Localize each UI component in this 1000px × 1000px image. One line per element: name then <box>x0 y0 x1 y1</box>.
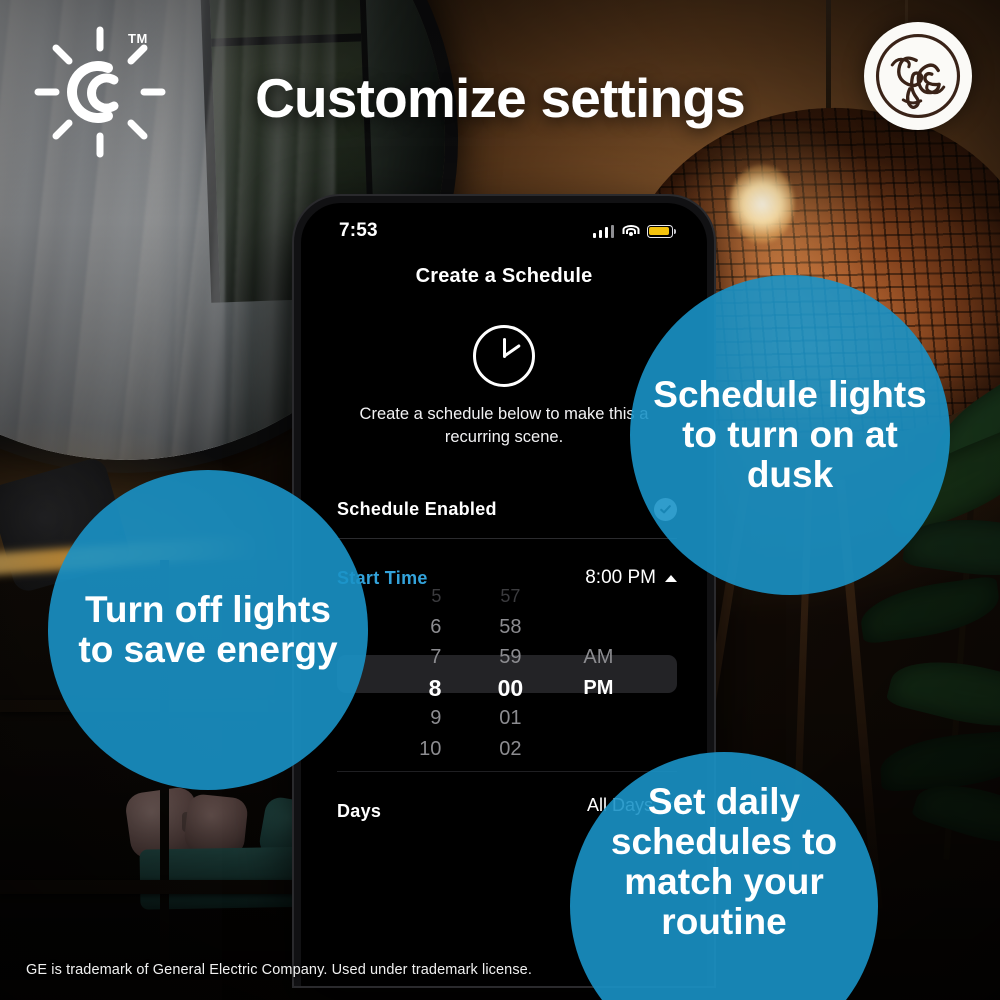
row-divider <box>337 771 677 772</box>
schedule-enabled-label: Schedule Enabled <box>337 499 497 520</box>
status-bar-indicators <box>593 225 673 238</box>
callout-bubble-daily: Set daily schedules to match your routin… <box>570 752 878 1000</box>
picker-hour-option[interactable]: 11 <box>423 764 442 771</box>
picker-minute-option[interactable]: 58 <box>499 612 521 643</box>
wifi-icon <box>622 225 639 238</box>
clock-icon <box>473 325 535 387</box>
trademark-symbol: TM <box>128 31 148 46</box>
cellular-signal-icon <box>593 225 614 238</box>
trademark-footnote: GE is trademark of General Electric Comp… <box>26 962 532 978</box>
status-bar: 7:53 <box>301 203 707 249</box>
picker-meridiem-option-selected[interactable]: PM <box>583 673 613 704</box>
page-headline: Customize settings <box>0 66 1000 130</box>
row-divider <box>337 538 677 539</box>
status-bar-time: 7:53 <box>339 220 378 242</box>
schedule-enabled-row[interactable]: Schedule Enabled <box>337 491 677 527</box>
picker-hour-option[interactable]: 9 <box>430 703 441 734</box>
picker-minute-option[interactable]: 57 <box>500 581 520 612</box>
picker-minute-option[interactable]: 03 <box>500 764 520 771</box>
picker-meridiem-option[interactable]: AM <box>583 642 613 673</box>
time-picker-minutes-column[interactable]: 57 58 59 00 01 02 03 <box>459 581 561 771</box>
picker-minute-option-selected[interactable]: 00 <box>498 673 524 704</box>
picker-minute-option[interactable]: 59 <box>499 642 521 673</box>
page-title: Create a Schedule <box>301 265 707 288</box>
days-label: Days <box>337 801 381 822</box>
picker-minute-option[interactable]: 02 <box>499 734 521 765</box>
battery-icon <box>647 225 673 238</box>
callout-bubble-energy: Turn off lights to save energy <box>48 470 368 790</box>
picker-hour-option-selected[interactable]: 8 <box>429 673 442 704</box>
picker-hour-option[interactable]: 6 <box>430 612 441 643</box>
picker-hour-option[interactable]: 5 <box>431 581 441 612</box>
time-picker-meridiem-column[interactable]: AM PM <box>561 581 677 771</box>
picker-minute-option[interactable]: 01 <box>499 703 521 734</box>
picker-hour-option[interactable]: 7 <box>430 642 441 673</box>
clock-minute-hand <box>503 344 520 357</box>
picker-hour-option[interactable]: 10 <box>419 734 441 765</box>
time-picker[interactable]: 5 6 7 8 9 10 11 57 58 59 00 01 02 <box>337 581 677 771</box>
time-picker-columns: 5 6 7 8 9 10 11 57 58 59 00 01 02 <box>337 581 677 771</box>
callout-bubble-dusk: Schedule lights to turn on at dusk <box>630 275 950 595</box>
promo-image: 7:53 Create a Schedule Create a schedule… <box>0 0 1000 1000</box>
